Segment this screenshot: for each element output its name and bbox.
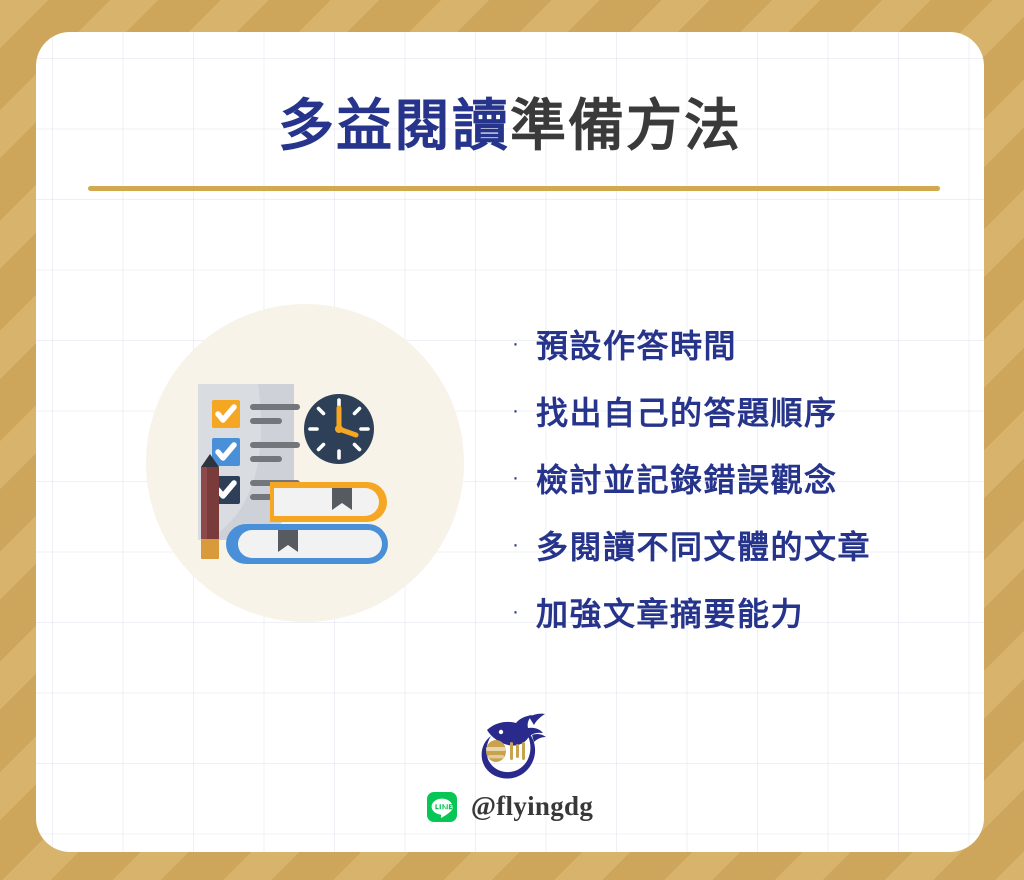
bullet-marker-icon: · bbox=[506, 400, 536, 421]
poster-card: 多益閱讀準備方法 bbox=[36, 32, 984, 852]
bullet-marker-icon: · bbox=[506, 467, 536, 488]
page-title: 多益閱讀準備方法 bbox=[36, 94, 984, 159]
bullet-marker-icon: · bbox=[506, 333, 536, 354]
list-item-label: 檢討並記錄錯誤觀念 bbox=[536, 455, 838, 501]
list-item-label: 預設作答時間 bbox=[536, 321, 737, 367]
bullet-marker-icon: · bbox=[506, 534, 536, 555]
social-handle-row[interactable]: @flyingdg bbox=[427, 791, 593, 822]
title-secondary-text: 準備方法 bbox=[510, 94, 742, 157]
list-item: · 預設作答時間 bbox=[506, 310, 976, 377]
list-item: · 多閱讀不同文體的文章 bbox=[506, 511, 976, 578]
card-content: 多益閱讀準備方法 bbox=[36, 32, 984, 852]
book-top-icon bbox=[270, 482, 387, 522]
flying-dragon-logo-icon bbox=[472, 711, 548, 785]
footer: @flyingdg bbox=[36, 711, 984, 822]
title-divider bbox=[88, 186, 940, 191]
bullet-marker-icon: · bbox=[506, 601, 536, 622]
list-item-label: 加強文章摘要能力 bbox=[536, 589, 804, 635]
line-app-icon[interactable] bbox=[427, 792, 457, 822]
list-item: · 檢討並記錄錯誤觀念 bbox=[506, 444, 976, 511]
book-bottom-icon bbox=[226, 524, 388, 564]
study-illustration bbox=[146, 304, 464, 622]
social-handle-text: @flyingdg bbox=[471, 791, 593, 822]
pencil-icon bbox=[201, 454, 219, 559]
list-item: · 加強文章摘要能力 bbox=[506, 578, 976, 645]
title-primary-text: 多益閱讀 bbox=[278, 94, 510, 157]
list-item: · 找出自己的答題順序 bbox=[506, 377, 976, 444]
tips-list: · 預設作答時間 · 找出自己的答題順序 · 檢討並記錄錯誤觀念 · 多閱讀不同… bbox=[506, 310, 976, 645]
clock-icon bbox=[304, 394, 374, 464]
list-item-label: 找出自己的答題順序 bbox=[536, 388, 838, 434]
list-item-label: 多閱讀不同文體的文章 bbox=[536, 522, 871, 568]
